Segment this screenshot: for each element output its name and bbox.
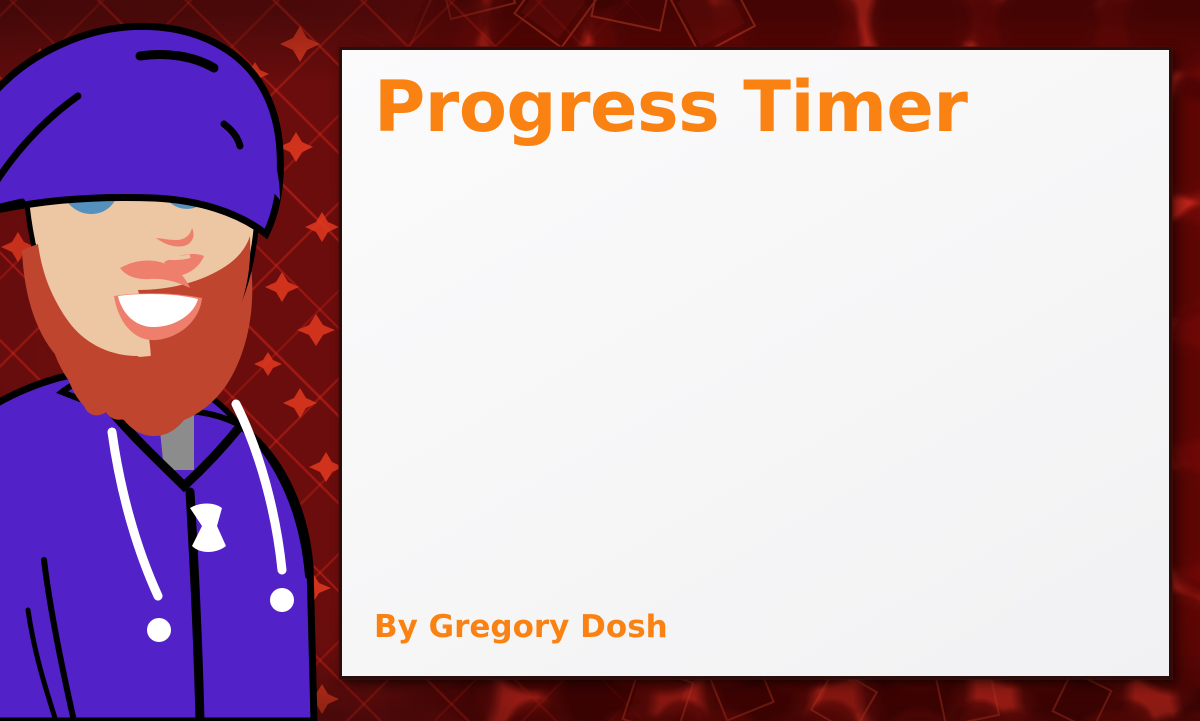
slide-body-area bbox=[372, 143, 1139, 610]
slide-content: Progress Timer By Gregory Dosh bbox=[342, 50, 1169, 676]
slide-byline: By Gregory Dosh bbox=[372, 610, 1139, 652]
page-title: Progress Timer bbox=[372, 72, 1139, 143]
presentation-slide-frame: Progress Timer By Gregory Dosh bbox=[0, 0, 1200, 721]
slide-card: Progress Timer By Gregory Dosh bbox=[339, 47, 1172, 679]
